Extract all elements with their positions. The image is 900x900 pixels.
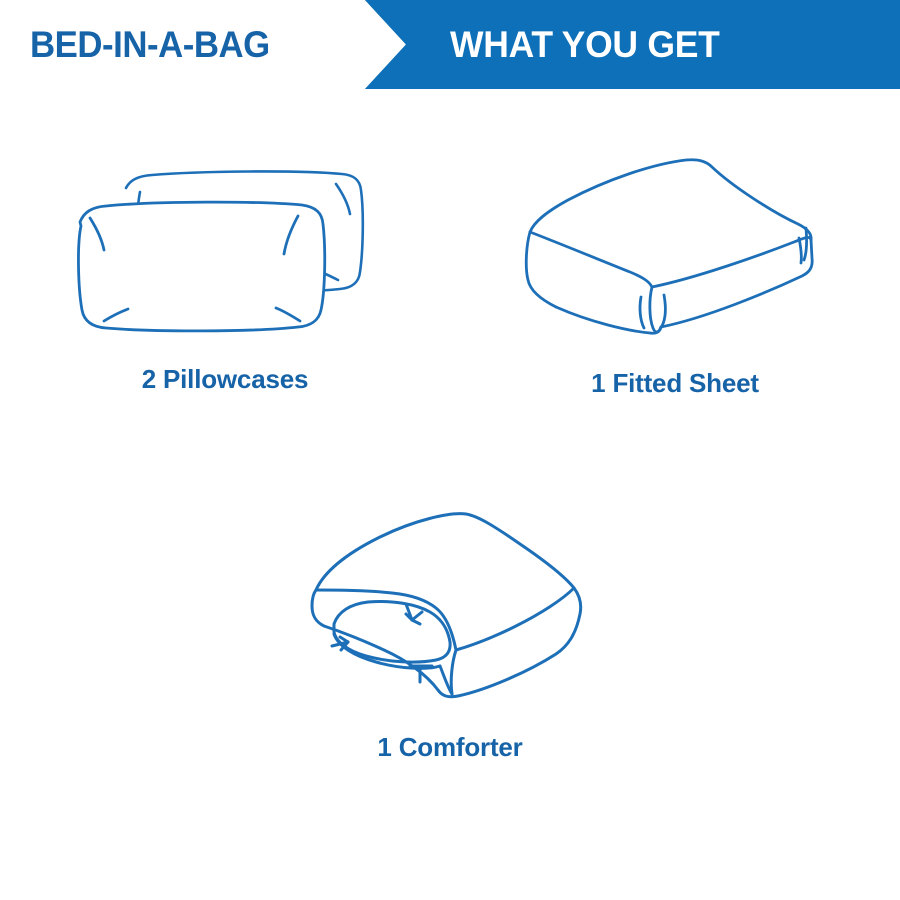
caption-fitted-sheet: 1 Fitted Sheet: [591, 368, 759, 399]
two-pillows-illustration: [60, 150, 390, 340]
folded-comforter-illustration: [280, 500, 620, 710]
product-item-comforter: 1 Comforter: [270, 500, 630, 820]
fitted-sheet-mattress-illustration: [510, 150, 840, 340]
product-item-fitted-sheet: 1 Fitted Sheet: [450, 150, 900, 450]
header-banner: BED-IN-A-BAG WHAT YOU GET: [0, 0, 900, 89]
banner-left-title: BED-IN-A-BAG: [30, 0, 270, 89]
product-row-bottom: 1 Comforter: [0, 500, 900, 820]
caption-pillowcases: 2 Pillowcases: [142, 364, 309, 395]
caption-comforter: 1 Comforter: [377, 732, 522, 763]
product-row-top: 2 Pillowcases: [0, 150, 900, 450]
banner-right-title: WHAT YOU GET: [450, 0, 720, 89]
product-item-pillowcases: 2 Pillowcases: [0, 150, 450, 450]
